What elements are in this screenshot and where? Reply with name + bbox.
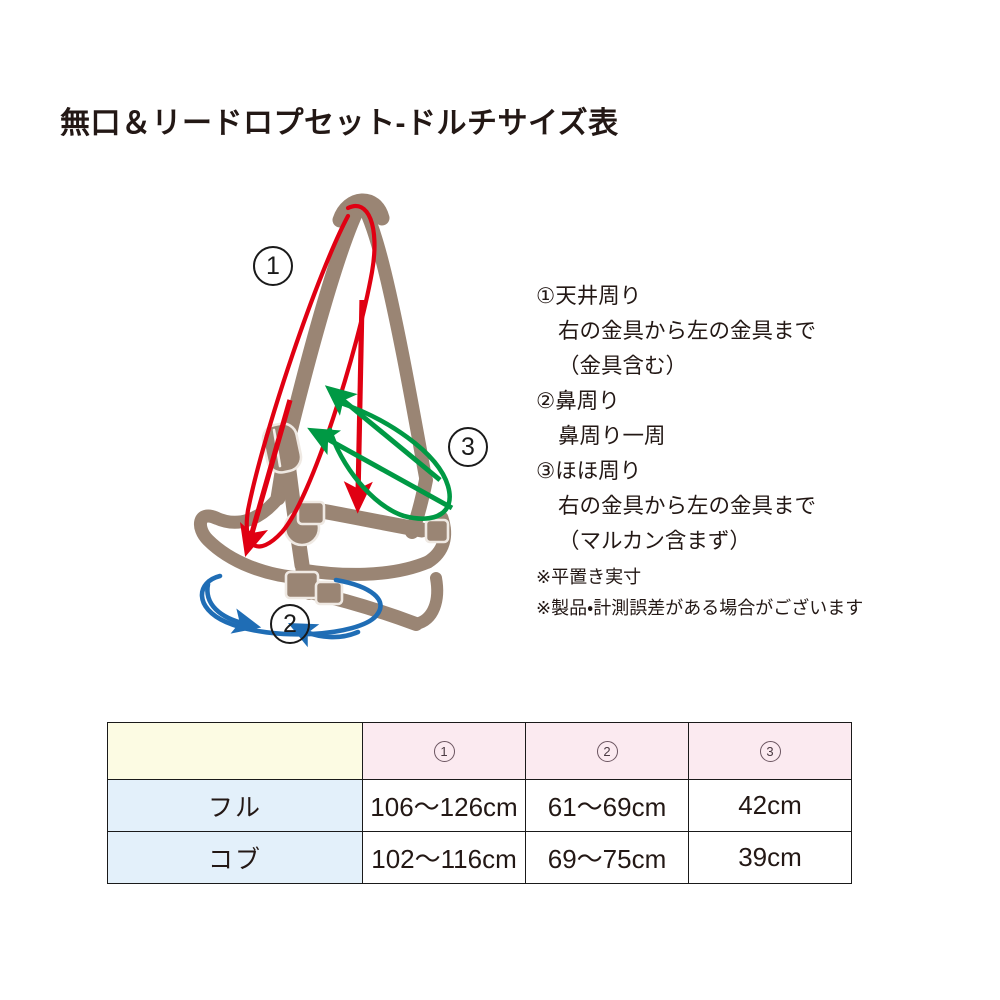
measurement-notes: ※平置き実寸 ※製品・計測誤差がある場合がございます — [536, 562, 936, 624]
note-line-1: ※平置き実寸 — [536, 562, 936, 593]
cell-cob-2: 69〜75cm — [526, 832, 689, 884]
table-header-col-2: 2 — [526, 723, 689, 780]
cell-cob-1: 102〜116cm — [363, 832, 526, 884]
row-label-cob: コブ — [108, 832, 363, 884]
page-title: 無口＆リードロプセット-ドルチサイズ表 — [60, 106, 619, 142]
table-header-row: 1 2 3 — [108, 723, 852, 780]
header-circle-1: 1 — [434, 741, 455, 762]
legend-line-7: 右の金具から左の金具まで — [536, 489, 936, 524]
cell-full-1: 106〜126cm — [363, 780, 526, 832]
halter-illustration — [190, 180, 520, 660]
legend-line-8: （マルカン含まず） — [536, 524, 936, 559]
legend-line-3: （金具含む） — [536, 349, 936, 384]
header-circle-2: 2 — [597, 741, 618, 762]
table-row: コブ 102〜116cm 69〜75cm 39cm — [108, 832, 852, 884]
size-table: 1 2 3 フル 106〜126cm 61〜69cm 42cm コブ 102〜1… — [107, 722, 852, 884]
legend-line-4: ②鼻周り — [536, 384, 936, 419]
table-header-col-1: 1 — [363, 723, 526, 780]
note-line-2: ※製品・計測誤差がある場合がございます — [536, 593, 936, 624]
measure-3-indicator — [322, 396, 452, 519]
cell-full-2: 61〜69cm — [526, 780, 689, 832]
page-root: 無口＆リードロプセット-ドルチサイズ表 — [0, 0, 1000, 1000]
halter-straps — [200, 201, 444, 624]
legend-line-2: 右の金具から左の金具まで — [536, 314, 936, 349]
table-header-col-3: 3 — [689, 723, 852, 780]
legend-line-5: 鼻周り一周 — [536, 419, 936, 454]
halter-diagram — [190, 180, 520, 660]
cell-full-3: 42cm — [689, 780, 852, 832]
cell-cob-3: 39cm — [689, 832, 852, 884]
legend-line-1: ①天井周り — [536, 279, 936, 314]
measurement-legend: ①天井周り 右の金具から左の金具まで （金具含む） ②鼻周り 鼻周り一周 ③ほほ… — [536, 279, 936, 559]
table-row: フル 106〜126cm 61〜69cm 42cm — [108, 780, 852, 832]
diagram-marker-2: 2 — [270, 604, 310, 644]
diagram-marker-3: 3 — [448, 427, 488, 467]
legend-line-6: ③ほほ周り — [536, 454, 936, 489]
diagram-marker-1: 1 — [253, 246, 293, 286]
header-circle-3: 3 — [760, 741, 781, 762]
row-label-full: フル — [108, 780, 363, 832]
table-corner-cell — [108, 723, 363, 780]
